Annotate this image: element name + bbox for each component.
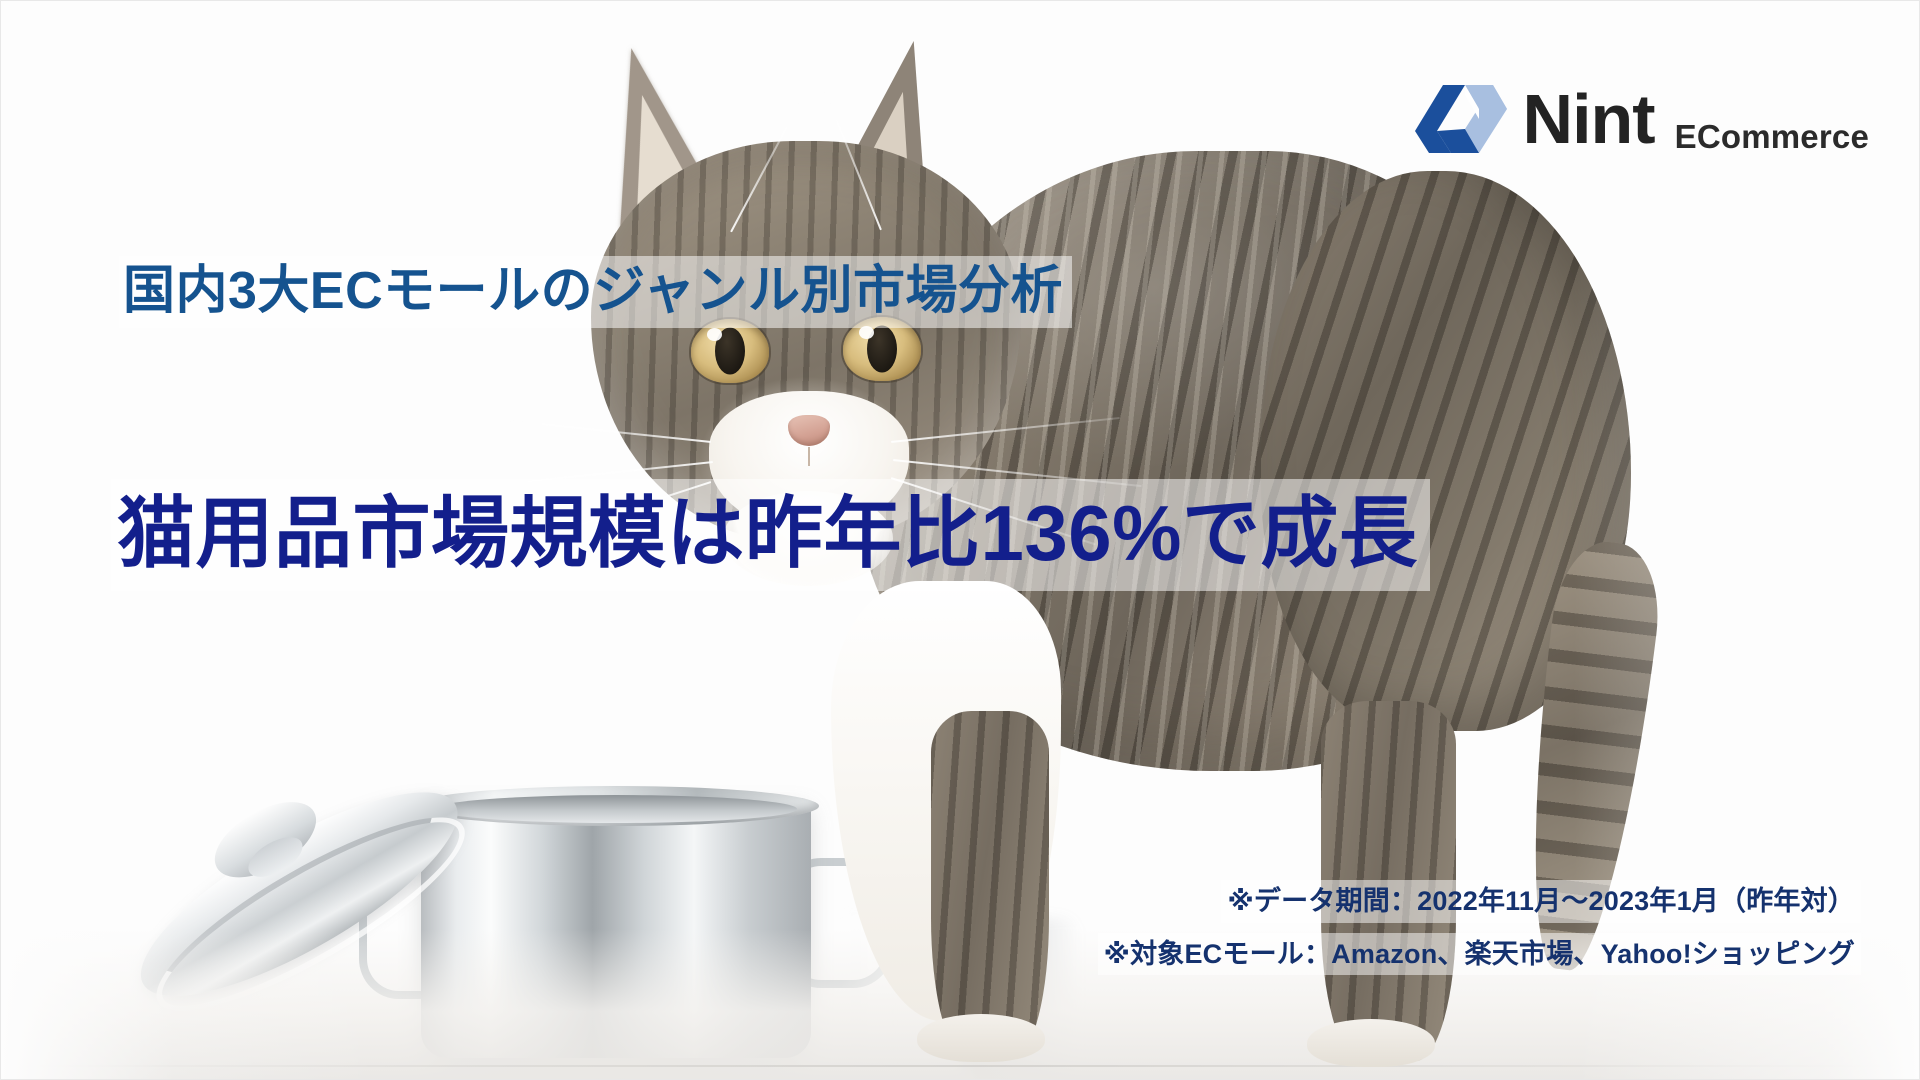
subtitle-container: 国内3大ECモールのジャンル別市場分析 <box>119 256 1072 328</box>
presentation-slide: Nint ECommerce 国内3大ECモールのジャンル別市場分析 猫用品市場… <box>0 0 1920 1080</box>
footnote-data-period: ※データ期間：2022年11月〜2023年1月（昨年対） <box>1221 880 1861 922</box>
footnotes: ※データ期間：2022年11月〜2023年1月（昨年対） ※対象ECモール：Am… <box>1098 880 1861 975</box>
subtitle-text: 国内3大ECモールのジャンル別市場分析 <box>119 256 1072 328</box>
nint-logo[interactable]: Nint ECommerce <box>1415 79 1869 159</box>
nint-wordmark: Nint <box>1523 84 1655 154</box>
cat-paw <box>1307 1019 1435 1067</box>
pot-interior <box>435 795 797 823</box>
cat-eye-glint-left <box>707 328 722 341</box>
headline-container: 猫用品市場規模は昨年比136%で成長 <box>111 479 1430 591</box>
cat-paw <box>917 1014 1045 1062</box>
cat-whisker <box>497 419 711 443</box>
footnote-target-malls: ※対象ECモール：Amazon、楽天市場、Yahoo!ショッピング <box>1098 933 1861 975</box>
nint-subtext: ECommerce <box>1675 120 1869 159</box>
cat-eye-left <box>691 319 769 383</box>
cat-mouth <box>808 447 810 466</box>
cat-nose <box>788 415 830 446</box>
cat-front-leg <box>931 711 1049 1056</box>
headline-text: 猫用品市場規模は昨年比136%で成長 <box>111 479 1430 591</box>
floor-horizon-line <box>1 1065 1919 1067</box>
cat-whisker <box>730 99 802 232</box>
nint-n-mark-icon <box>1415 79 1507 159</box>
